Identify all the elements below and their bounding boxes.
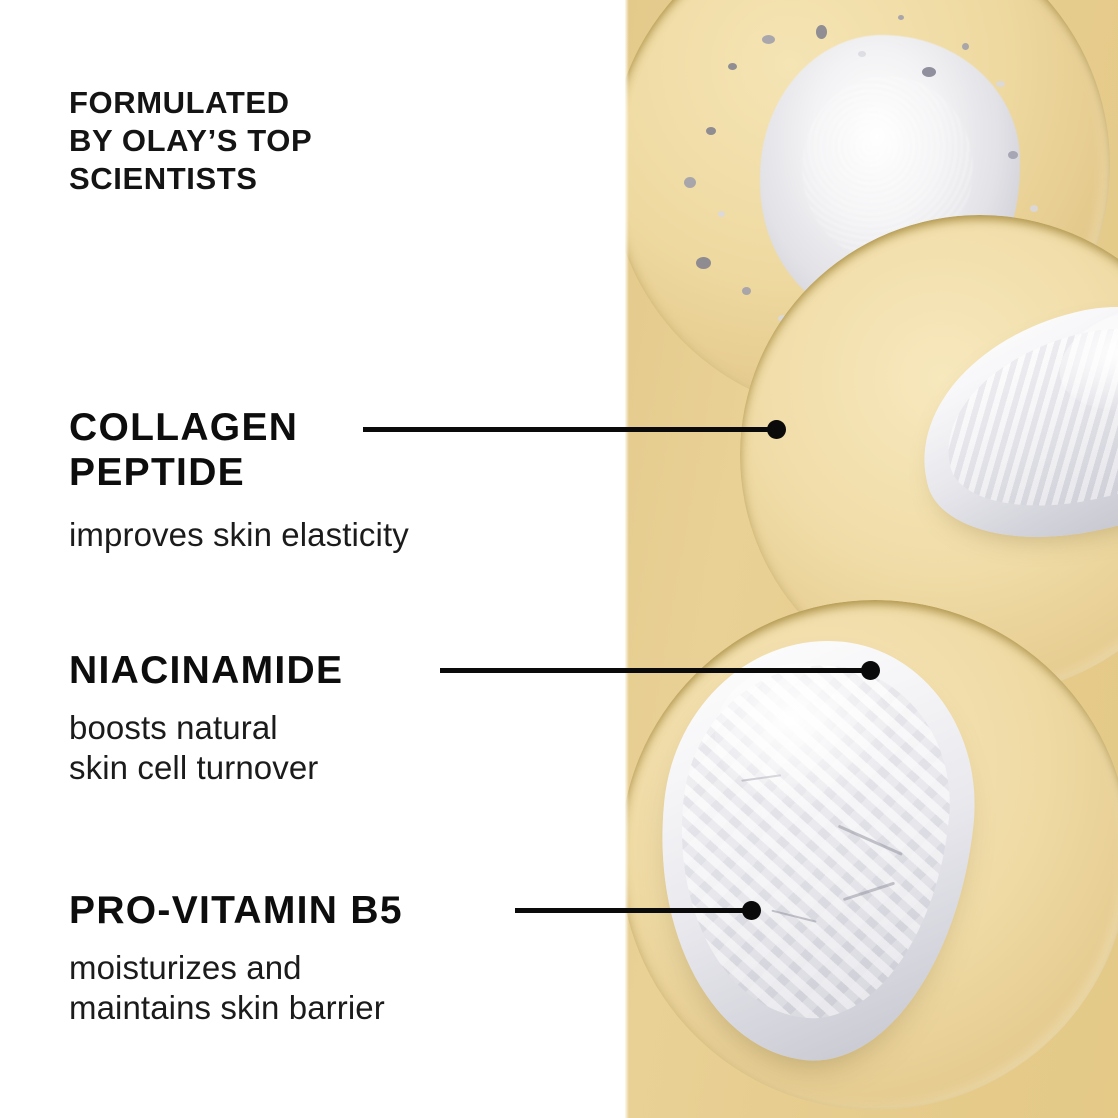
product-image-panel [625, 0, 1118, 1118]
collagen-peptide-connector [363, 427, 779, 432]
ingredient-title-niacinamide: NIACINAMIDE [69, 648, 343, 693]
connector-dot [861, 661, 880, 680]
connector-dot [767, 420, 786, 439]
ingredient-title-pro-vitamin-b5: PRO-VITAMIN B5 [69, 888, 403, 933]
pro-vitamin-b5-connector [515, 908, 754, 913]
panel-edge-highlight [625, 0, 629, 1118]
infographic-root: FORMULATED BY OLAY’S TOP SCIENTISTS COLL… [0, 0, 1118, 1118]
text-panel: FORMULATED BY OLAY’S TOP SCIENTISTS COLL… [0, 0, 625, 1118]
ingredient-title-collagen-peptide: COLLAGEN PEPTIDE [69, 405, 298, 495]
connector-dot [742, 901, 761, 920]
ingredient-description-collagen-peptide: improves skin elasticity [69, 515, 409, 555]
ingredient-description-pro-vitamin-b5: moisturizes and maintains skin barrier [69, 948, 385, 1028]
niacinamide-connector [440, 668, 873, 673]
ingredient-description-niacinamide: boosts natural skin cell turnover [69, 708, 318, 788]
page-title: FORMULATED BY OLAY’S TOP SCIENTISTS [69, 84, 312, 198]
